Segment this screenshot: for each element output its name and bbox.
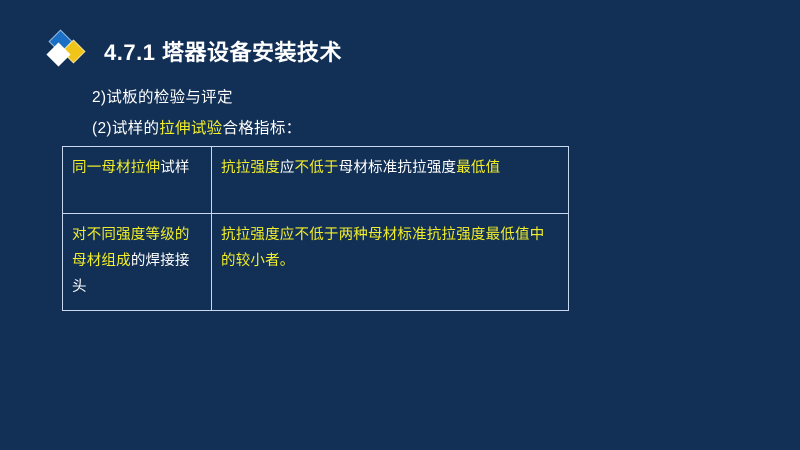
page-title: 4.7.1 塔器设备安装技术	[104, 35, 342, 67]
table-cell-sample-type: 同一母材拉伸试样	[63, 147, 212, 214]
tensile-test-criteria-table: 同一母材拉伸试样 抗拉强度应不低于母材标准抗拉强度最低值 对不同强度等级的母材组…	[62, 146, 569, 311]
slide-header: 4.7.1 塔器设备安装技术	[44, 28, 342, 74]
body-line-two-highlight: 拉伸试验	[159, 120, 222, 137]
cell-text-highlight: 抗拉强度应不低于两种母材标准抗拉强度最低值中的较小者。	[221, 227, 544, 269]
slide-canvas: 4.7.1 塔器设备安装技术 2)试板的检验与评定 (2)试样的拉伸试验合格指标…	[0, 0, 800, 450]
body-line-two-suffix: 合格指标：	[222, 120, 301, 137]
table-row: 同一母材拉伸试样 抗拉强度应不低于母材标准抗拉强度最低值	[63, 147, 569, 214]
cell-seg-1: 抗拉强度	[221, 160, 280, 176]
table-cell-criteria: 抗拉强度应不低于两种母材标准抗拉强度最低值中的较小者。	[212, 214, 569, 311]
diamond-logo-icon	[44, 29, 92, 73]
table-cell-criteria: 抗拉强度应不低于母材标准抗拉强度最低值	[212, 147, 569, 214]
cell-seg-3: 不低于	[295, 160, 339, 176]
cell-seg-5: 最低值	[456, 160, 500, 176]
table-row: 对不同强度等级的母材组成的焊接接头 抗拉强度应不低于两种母材标准抗拉强度最低值中…	[63, 214, 569, 311]
cell-seg-2: 应	[280, 160, 295, 176]
table-cell-sample-type: 对不同强度等级的母材组成的焊接接头	[63, 214, 212, 311]
cell-seg-4: 母材标准抗拉强度	[339, 160, 457, 176]
body-line-two-prefix: (2)试样的	[92, 120, 159, 137]
cell-text-highlight: 同一母材拉伸	[72, 160, 160, 176]
cell-text-plain: 试样	[160, 160, 189, 176]
body-line-one: 2)试板的检验与评定	[92, 85, 233, 107]
body-line-two: (2)试样的拉伸试验合格指标：	[92, 116, 301, 138]
